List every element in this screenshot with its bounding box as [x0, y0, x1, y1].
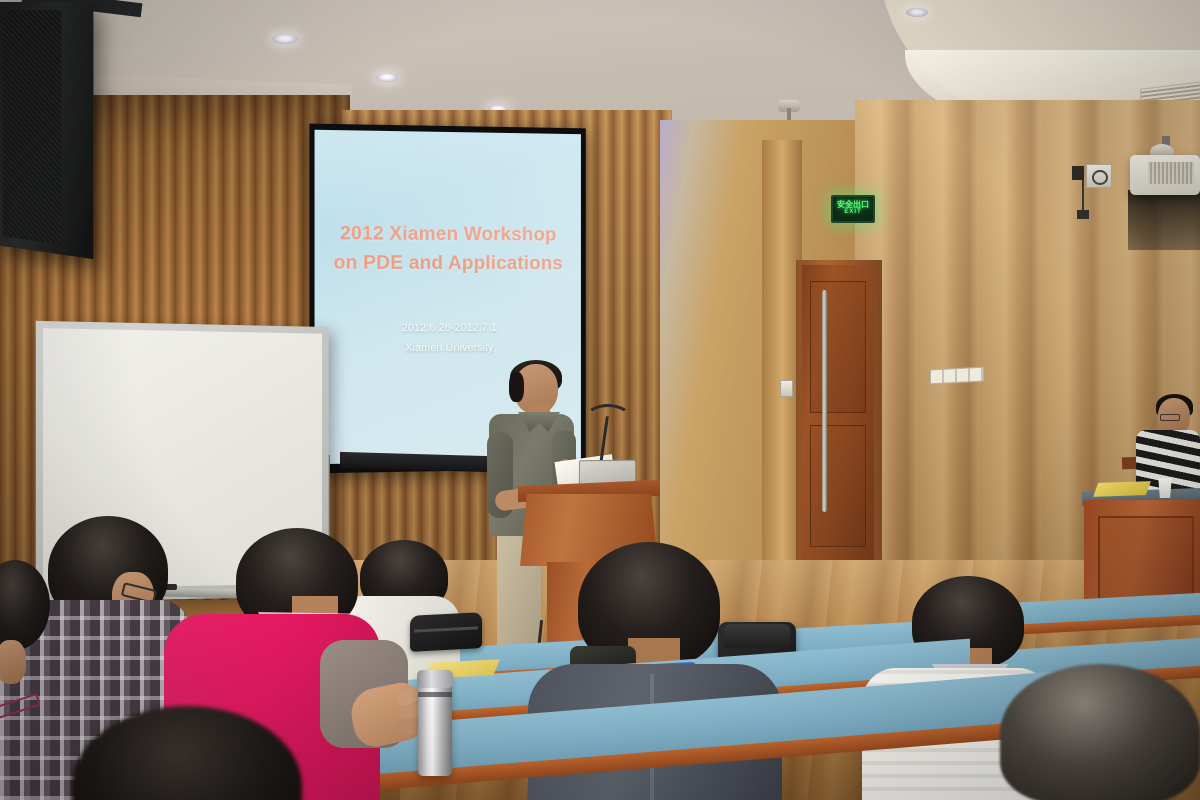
control-box-lower	[1077, 210, 1089, 219]
wall-control-box[interactable]	[1072, 166, 1084, 180]
downlight-icon	[376, 73, 398, 82]
door-panel-lower	[810, 425, 866, 547]
audience-far-left-face	[0, 640, 26, 684]
side-table-panel	[1098, 516, 1194, 600]
downlight-icon	[906, 8, 928, 17]
foreground-head-right	[1000, 664, 1200, 800]
door[interactable]	[802, 265, 874, 577]
control-dial-icon[interactable]	[1092, 170, 1108, 185]
projector-shadow	[1128, 190, 1200, 250]
exit-sign-icon: 安全出口 EXIT	[831, 195, 875, 223]
door-panel-upper	[810, 281, 866, 413]
camera-bag-flap	[724, 624, 790, 648]
door-handle-icon[interactable]	[822, 290, 827, 512]
speaker-grille	[3, 10, 62, 245]
pa-speaker-icon	[0, 2, 93, 259]
light-switch-plate[interactable]	[930, 367, 984, 385]
exit-sign-english: EXIT	[844, 209, 861, 217]
glasses-icon	[1160, 414, 1180, 421]
downlight-icon	[272, 34, 298, 44]
light-switch-icon[interactable]	[780, 380, 793, 397]
lecture-hall-photo: 2012 Xiamen Workshop on PDE and Applicat…	[0, 0, 1200, 800]
control-wire	[1082, 180, 1084, 212]
yellow-folder[interactable]	[1093, 481, 1151, 497]
exit-sign-chinese: 安全出口	[837, 201, 869, 209]
thermos-cap[interactable]	[417, 670, 453, 688]
thermos-ring	[418, 692, 452, 697]
projector-grille	[1148, 162, 1194, 184]
presenter-hair-side	[509, 372, 524, 402]
